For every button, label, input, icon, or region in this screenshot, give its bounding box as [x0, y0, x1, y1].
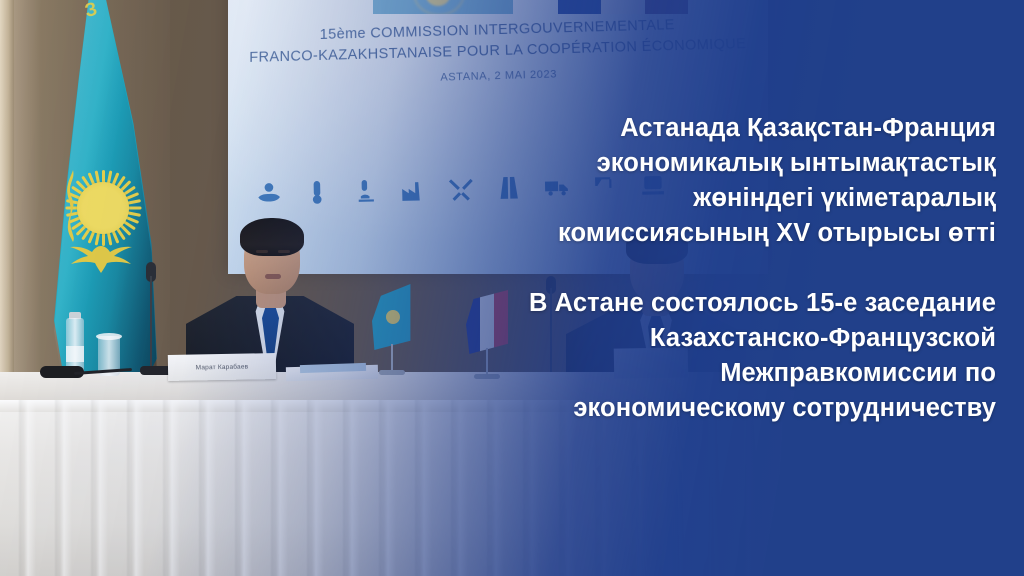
headline-kazakh: Астанада Қазақстан-Франция экономикалық … — [276, 112, 996, 251]
headline-kz-line-2: экономикалық ынтымақтастық — [276, 147, 996, 180]
headline-ru-line-3: Межправкомиссии по — [276, 357, 996, 390]
headline-block: Астанада Қазақстан-Франция экономикалық … — [276, 112, 996, 427]
headline-kz-line-1: Астанада Қазақстан-Франция — [276, 112, 996, 145]
headline-ru-line-2: Казахстанско-Французской — [276, 322, 996, 355]
headline-russian: В Астане состоялось 15-е заседание Казах… — [276, 287, 996, 426]
headline-kz-line-4: комиссиясының XV отырысы өтті — [276, 217, 996, 250]
press-photo-card: 15ème COMMISSION INTERGOUVERNEMENTALE FR… — [0, 0, 1024, 576]
headline-ru-line-4: экономическому сотрудничеству — [276, 392, 996, 425]
headline-kz-line-3: жөніндегі үкіметаралық — [276, 182, 996, 215]
headline-spacer — [276, 253, 996, 287]
headline-ru-line-1: В Астане состоялось 15-е заседание — [276, 287, 996, 320]
